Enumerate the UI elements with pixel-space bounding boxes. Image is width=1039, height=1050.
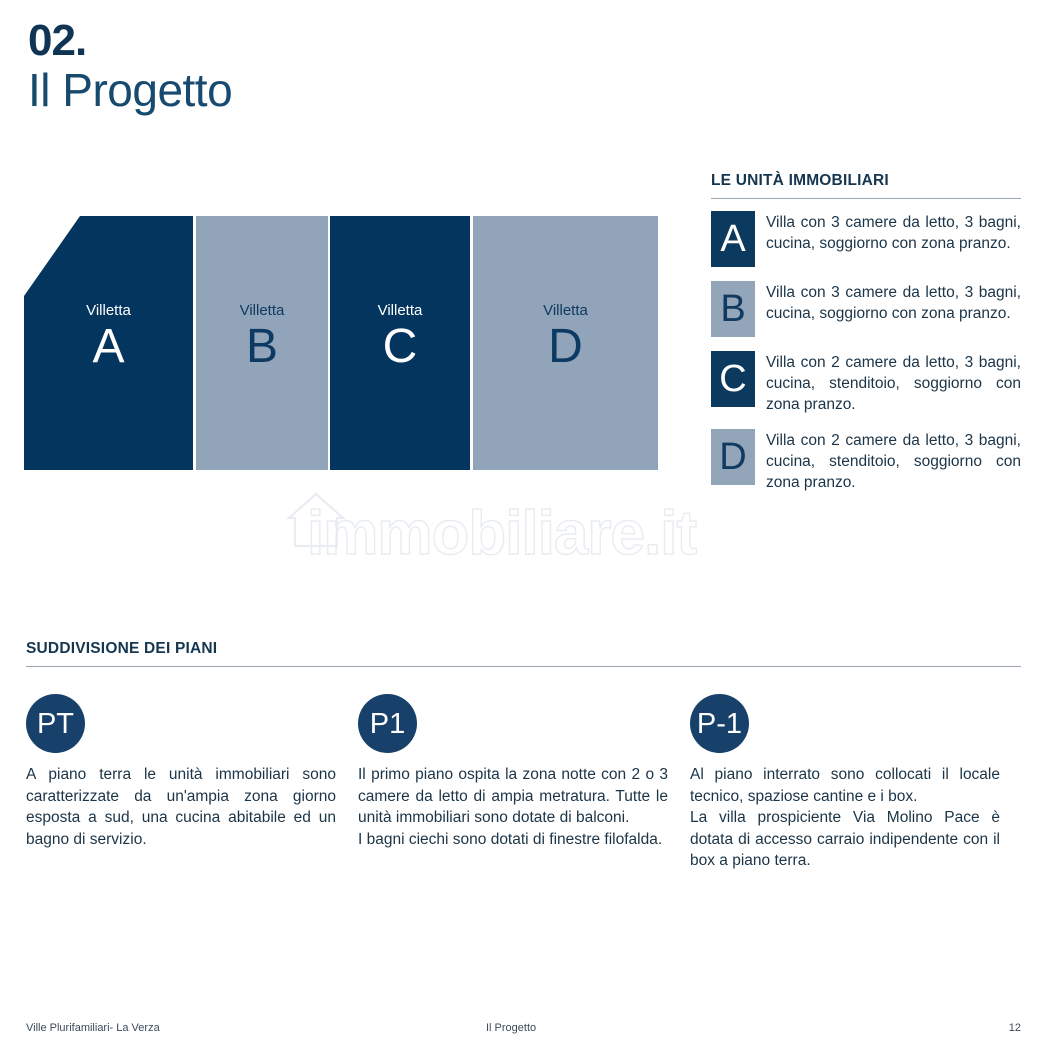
unit-row: B Villa con 3 camere da letto, 3 bagni, … <box>711 281 1021 337</box>
floors-divider <box>26 666 1021 667</box>
floors-heading: SUDDIVISIONE DEI PIANI <box>26 640 217 658</box>
unit-badge-b: B <box>711 281 755 337</box>
watermark-text: immobiliare.it <box>307 494 696 574</box>
units-panel: LE UNITÀ IMMOBILIARI A Villa con 3 camer… <box>711 172 1021 507</box>
unit-badge-c: C <box>711 351 755 407</box>
villa-block-c: Villetta C <box>330 216 470 470</box>
villa-letter-d: D <box>548 321 583 373</box>
watermark: immobiliare.it <box>285 486 755 582</box>
units-divider <box>711 198 1021 199</box>
unit-description-b: Villa con 3 camere da letto, 3 bagni, cu… <box>766 281 1021 324</box>
floor-text-p1: Il primo piano ospita la zona notte con … <box>358 764 668 850</box>
footer-page-number: 12 <box>981 1022 1021 1034</box>
unit-description-a: Villa con 3 camere da letto, 3 bagni, cu… <box>766 211 1021 254</box>
villa-letter-a: A <box>92 321 124 373</box>
house-icon <box>285 488 347 550</box>
floor-text-pt: A piano terra le unità immobiliari sono … <box>26 764 336 850</box>
villa-block-a: Villetta A <box>24 216 193 470</box>
unit-description-c: Villa con 2 camere da letto, 3 bagni, cu… <box>766 351 1021 415</box>
page-title: 02. Il Progetto <box>28 18 232 116</box>
unit-row: A Villa con 3 camere da letto, 3 bagni, … <box>711 211 1021 267</box>
villa-letter-c: C <box>383 321 418 373</box>
unit-badge-d: D <box>711 429 755 485</box>
unit-row: D Villa con 2 camere da letto, 3 bagni, … <box>711 429 1021 493</box>
villa-block-b: Villetta B <box>196 216 328 470</box>
floor-column-p1: P1 Il primo piano ospita la zona notte c… <box>358 694 690 872</box>
section-number: 02. <box>28 18 232 64</box>
villa-block-d: Villetta D <box>473 216 658 470</box>
villa-label-a: Villetta <box>86 302 131 319</box>
floors-row: PT A piano terra le unità immobiliari so… <box>26 694 1022 872</box>
unit-row: C Villa con 2 camere da letto, 3 bagni, … <box>711 351 1021 415</box>
floor-column-pm1: P-1 Al piano interrato sono collocati il… <box>690 694 1022 872</box>
villa-label-d: Villetta <box>543 302 588 319</box>
section-title: Il Progetto <box>28 64 232 116</box>
floor-badge-p1: P1 <box>358 694 417 753</box>
footer-project-name: Ville Plurifamiliari- La Verza <box>26 1022 486 1034</box>
villa-label-b: Villetta <box>240 302 285 319</box>
units-heading: LE UNITÀ IMMOBILIARI <box>711 172 1021 190</box>
villa-letter-b: B <box>246 321 278 373</box>
floor-column-pt: PT A piano terra le unità immobiliari so… <box>26 694 358 872</box>
unit-badge-a: A <box>711 211 755 267</box>
floor-badge-pm1: P-1 <box>690 694 749 753</box>
footer: Ville Plurifamiliari- La Verza Il Proget… <box>26 1022 1021 1034</box>
footer-section-name: Il Progetto <box>486 1022 981 1034</box>
unit-description-d: Villa con 2 camere da letto, 3 bagni, cu… <box>766 429 1021 493</box>
villa-diagram: Villetta A Villetta B Villetta C Villett… <box>24 216 658 470</box>
villa-label-c: Villetta <box>378 302 423 319</box>
floor-text-pm1: Al piano interrato sono collocati il loc… <box>690 764 1000 872</box>
floor-badge-pt: PT <box>26 694 85 753</box>
